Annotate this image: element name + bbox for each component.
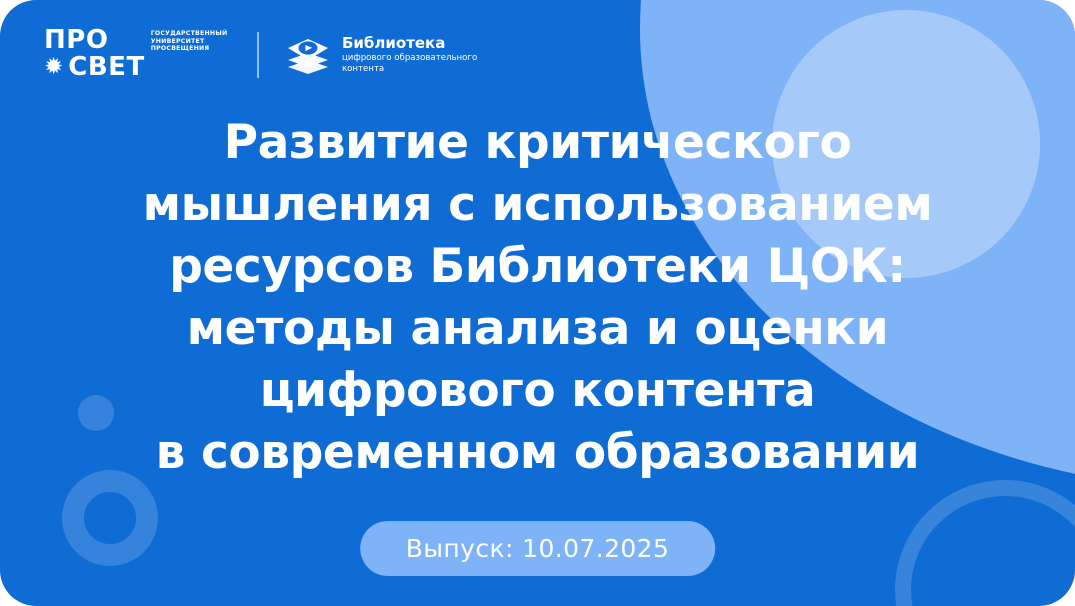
prosvet-wordmark-row-bottom: ✹ СВЕТ	[44, 54, 145, 81]
library-subtitle: цифрового образовательного контента	[342, 53, 477, 75]
library-wordmark: Библиотека цифрового образовательного ко…	[342, 35, 477, 75]
prosvet-word-top: ПРО	[44, 27, 108, 54]
library-title: Библиотека	[342, 35, 477, 52]
title-line-4: методы анализа и оценки	[30, 298, 1045, 360]
library-logo[interactable]: Библиотека цифрового образовательного ко…	[285, 34, 477, 76]
prosvet-subtitle: ГОСУДАРСТВЕННЫЙ УНИВЕРСИТЕТ ПРОСВЕЩЕНИЯ	[151, 30, 228, 53]
header-divider	[257, 32, 259, 78]
layers-play-icon	[285, 34, 331, 76]
page-title: Развитие критического мышления с использ…	[0, 112, 1075, 484]
release-date-badge: Выпуск: 10.07.2025	[360, 521, 716, 576]
donut-ring-right-shape	[895, 480, 1075, 606]
prosvet-word-bottom: СВЕТ	[68, 54, 144, 81]
prosvet-wordmark-row-top: ПРО	[44, 27, 145, 54]
title-line-2: мышления с использованием	[30, 174, 1045, 236]
asterisk-icon: ✹	[44, 56, 63, 79]
title-line-3: ресурсов Библиотеки ЦОК:	[30, 236, 1045, 298]
release-date-label: Выпуск: 10.07.2025	[406, 534, 670, 563]
promo-banner-card: ПРО ✹ СВЕТ ГОСУДАРСТВЕННЫЙ УНИВЕРСИТЕТ П…	[0, 0, 1075, 606]
title-line-1: Развитие критического	[30, 112, 1045, 174]
title-line-5: цифрового контента	[30, 360, 1045, 422]
prosvet-logo[interactable]: ПРО ✹ СВЕТ ГОСУДАРСТВЕННЫЙ УНИВЕРСИТЕТ П…	[44, 27, 227, 83]
prosvet-wordmark: ПРО ✹ СВЕТ	[44, 27, 145, 81]
title-line-6: в современном образовании	[30, 422, 1045, 484]
donut-ring-left-shape	[62, 470, 158, 566]
header-logo-bar: ПРО ✹ СВЕТ ГОСУДАРСТВЕННЫЙ УНИВЕРСИТЕТ П…	[44, 24, 477, 86]
